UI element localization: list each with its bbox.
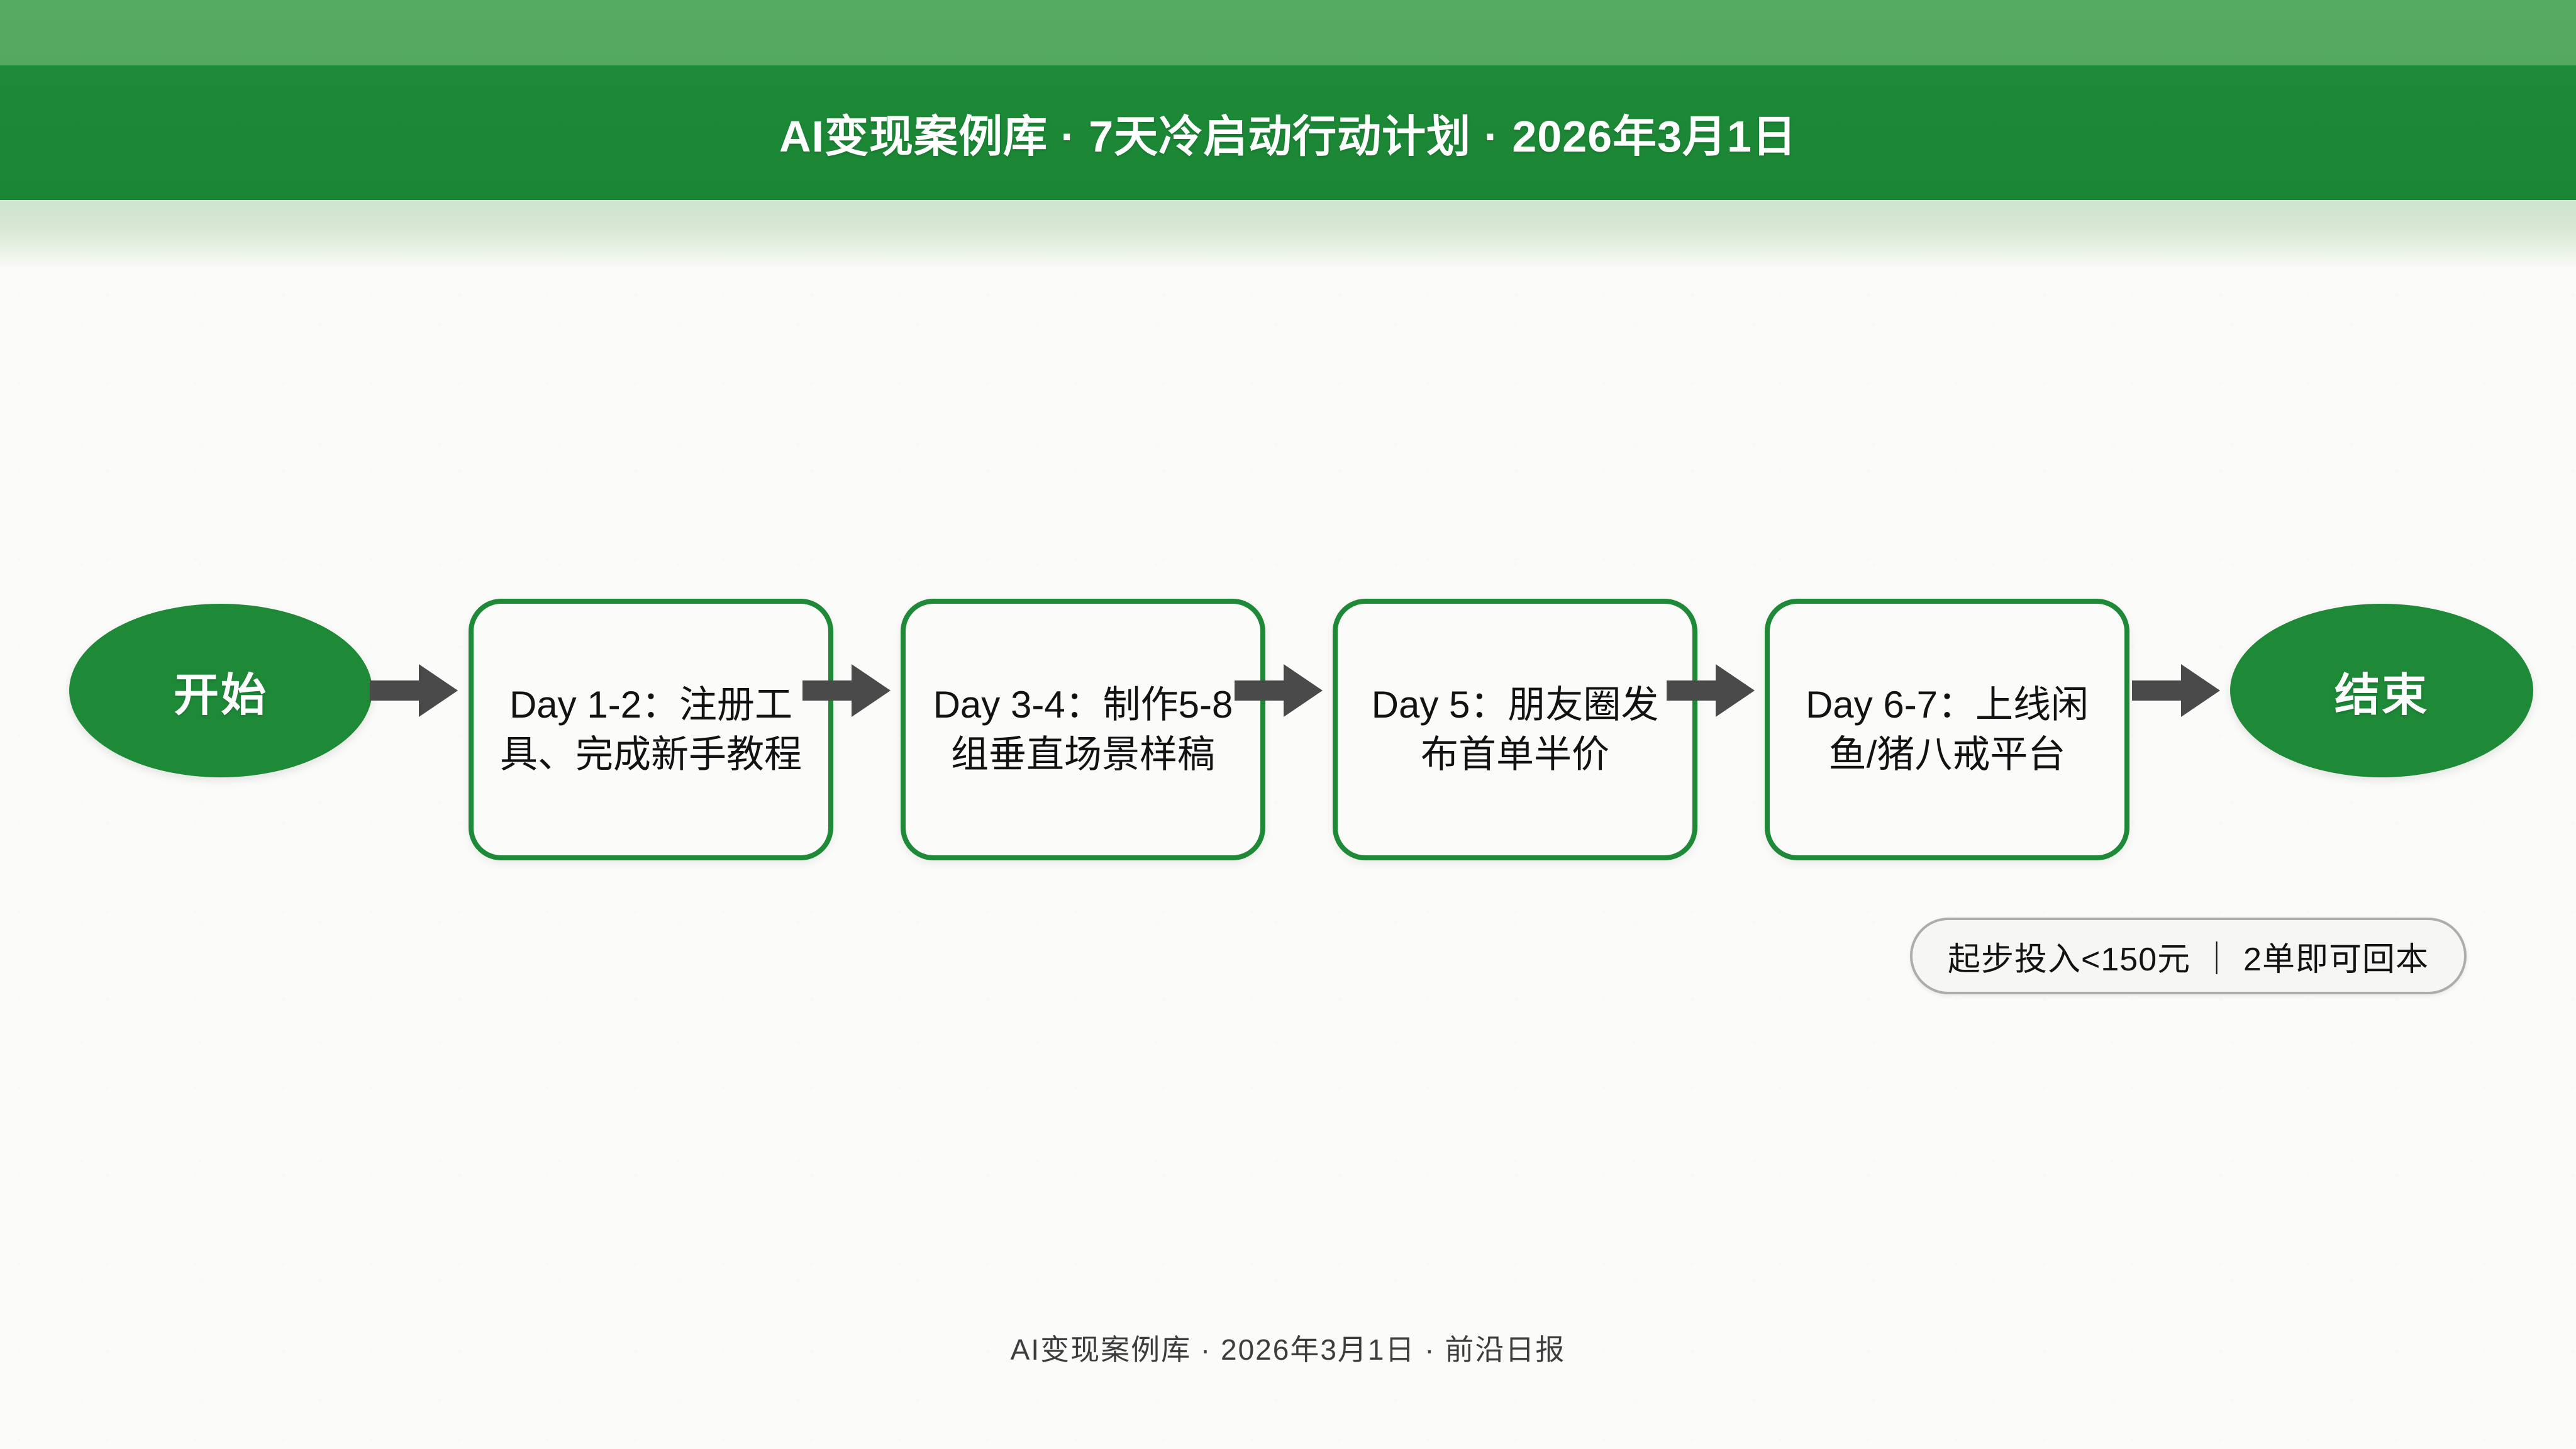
header-banner: AI变现案例库 · 7天冷启动行动计划 · 2026年3月1日 — [0, 0, 2576, 268]
cost-summary-badge: 起步投入<150元 ｜ 2单即可回本 — [1910, 918, 2467, 994]
flow-node-step-3[interactable]: Day 5：朋友圈发布首单半价 — [1333, 599, 1697, 860]
flowchart: 开始 Day 1-2：注册工具、完成新手教程 Day 3-4：制作5-8组垂直场… — [0, 585, 2576, 880]
header-main-band: AI变现案例库 · 7天冷启动行动计划 · 2026年3月1日 — [0, 65, 2576, 200]
arrow-right-icon — [2132, 662, 2220, 719]
flow-node-step-3-label: Day 5：朋友圈发布首单半价 — [1353, 680, 1677, 779]
flow-node-step-2[interactable]: Day 3-4：制作5-8组垂直场景样稿 — [901, 599, 1265, 860]
cost-summary-badge-label: 起步投入<150元 ｜ 2单即可回本 — [1948, 933, 2429, 980]
page-title: AI变现案例库 · 7天冷启动行动计划 · 2026年3月1日 — [779, 101, 1797, 165]
slide-canvas: AI变现案例库 · 7天冷启动行动计划 · 2026年3月1日 开始 Day 1… — [0, 0, 2576, 1449]
flow-node-end[interactable]: 结束 — [2230, 604, 2533, 777]
arrow-right-icon — [1235, 662, 1323, 719]
flow-node-step-1-label: Day 1-2：注册工具、完成新手教程 — [489, 680, 813, 779]
flow-node-start-label: 开始 — [174, 658, 268, 724]
arrow-right-icon — [802, 662, 891, 719]
footer-label: AI变现案例库 · 2026年3月1日 · 前沿日报 — [1011, 1333, 1566, 1366]
flow-node-step-1[interactable]: Day 1-2：注册工具、完成新手教程 — [469, 599, 833, 860]
footer: AI变现案例库 · 2026年3月1日 · 前沿日报 — [0, 1327, 2576, 1368]
arrow-right-icon — [370, 662, 458, 719]
header-fade-band — [0, 200, 2576, 268]
flow-node-step-4[interactable]: Day 6-7：上线闲鱼/猪八戒平台 — [1765, 599, 2129, 860]
flow-node-end-label: 结束 — [2334, 658, 2429, 724]
header-top-accent-band — [0, 0, 2576, 65]
flow-node-start[interactable]: 开始 — [69, 604, 372, 777]
flow-node-step-4-label: Day 6-7：上线闲鱼/猪八戒平台 — [1785, 680, 2109, 779]
arrow-right-icon — [1667, 662, 1755, 719]
flow-node-step-2-label: Day 3-4：制作5-8组垂直场景样稿 — [921, 680, 1245, 779]
